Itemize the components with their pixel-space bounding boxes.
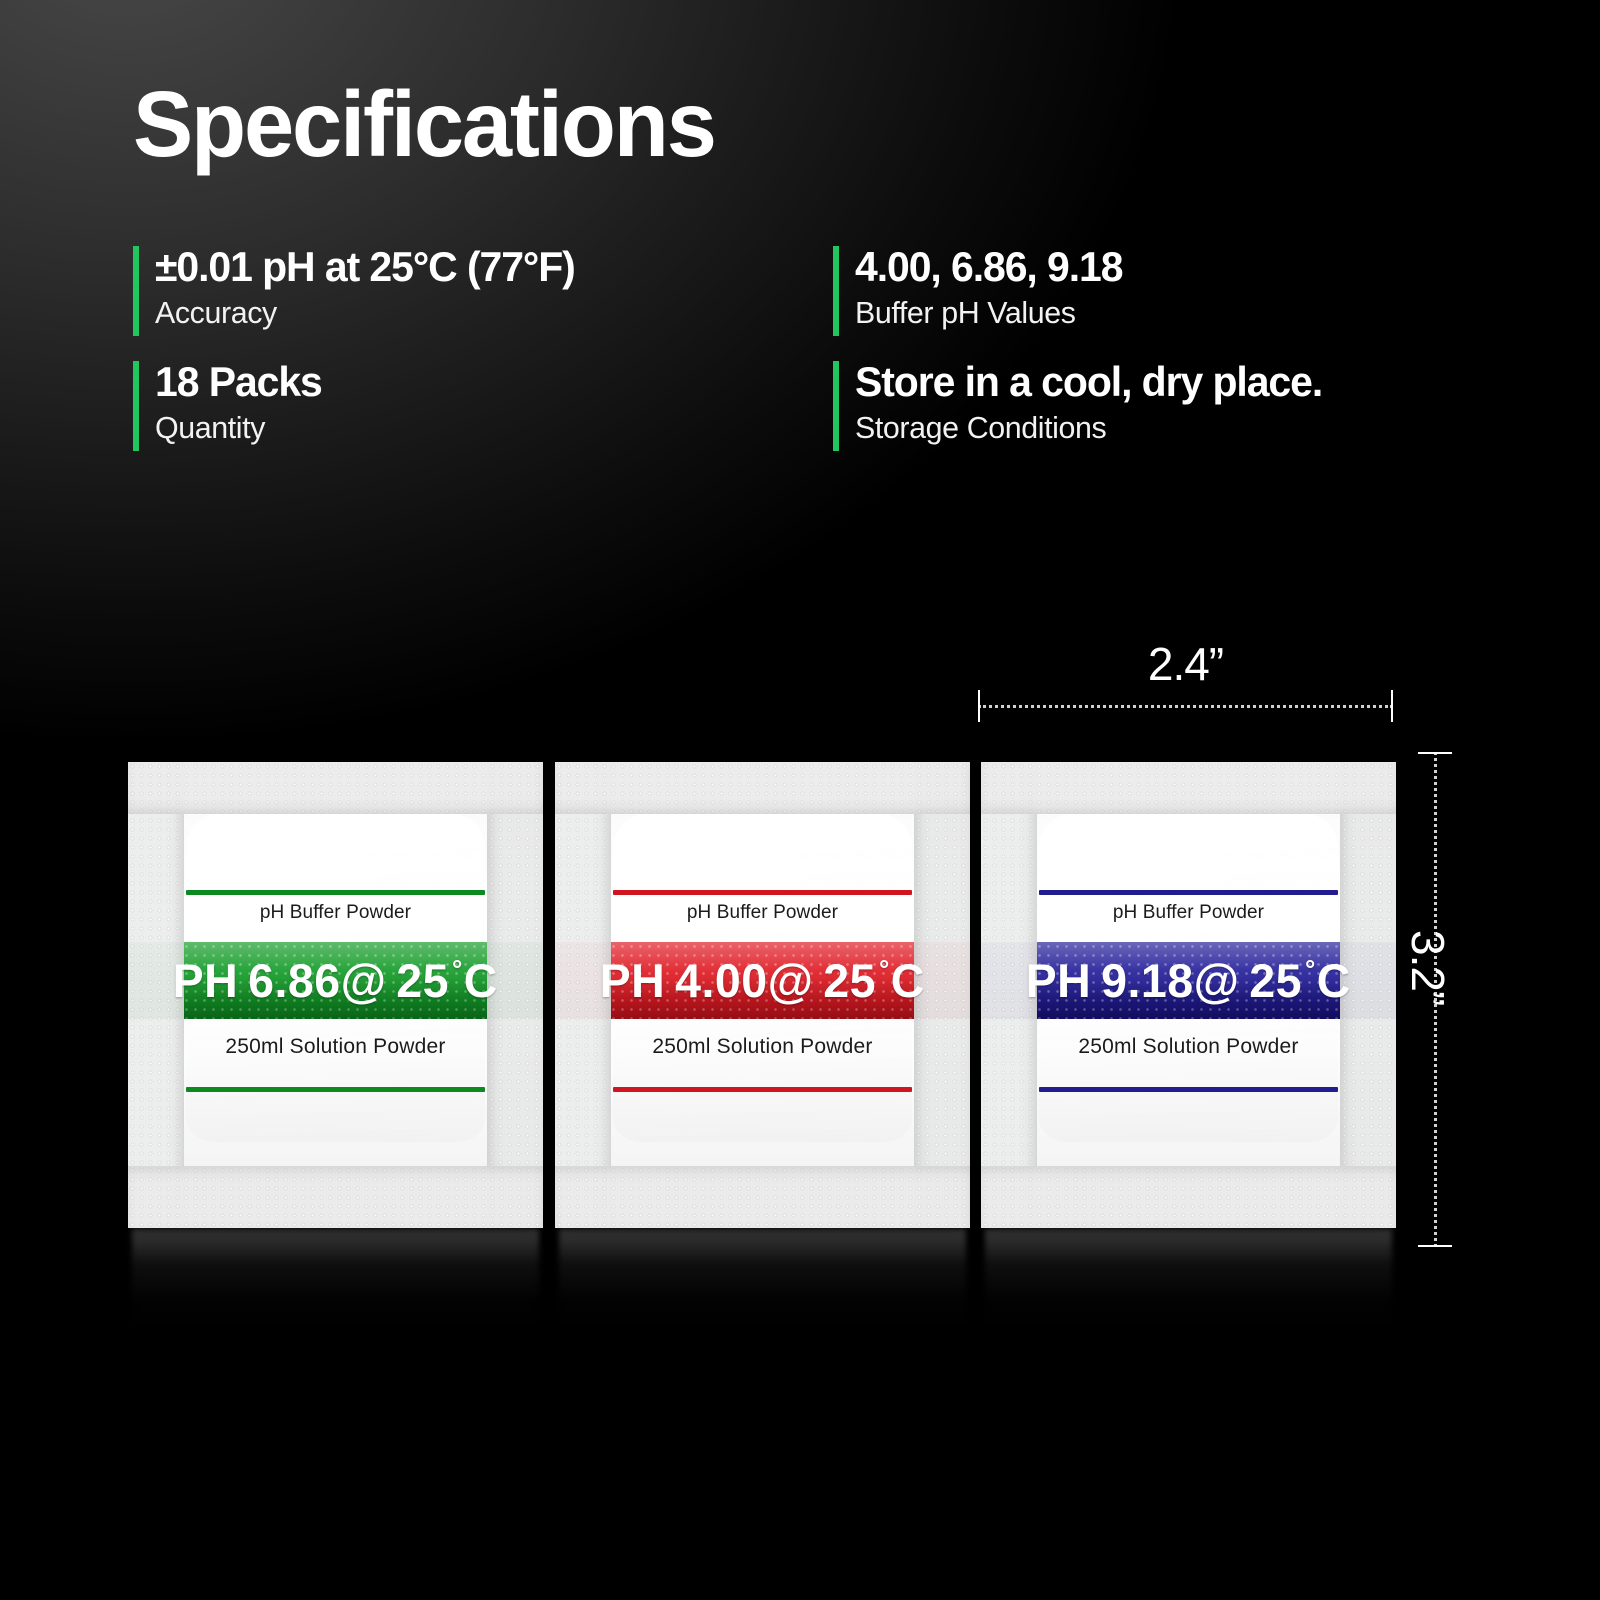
crimp-edge-top (555, 762, 970, 814)
sachet-artwork: pH Buffer Powder PH 4.00@ 25°C 250ml Sol… (555, 762, 970, 1228)
crimp-edge-top (981, 762, 1396, 814)
sachet-ph-918: pH Buffer Powder PH 9.18@ 25°C 250ml Sol… (981, 762, 1396, 1228)
dimension-width-label: 2.4” (978, 637, 1393, 691)
dimension-tick-start (978, 690, 980, 722)
sachet-top-caption: pH Buffer Powder (128, 902, 543, 924)
degree-symbol: ° (1305, 954, 1316, 984)
spec-text-group: Store in a cool, dry place. Storage Cond… (839, 358, 1334, 448)
sachet-color-band: PH 6.86@ 25°C (128, 942, 543, 1019)
product-photo-scene: pH Buffer Powder PH 6.86@ 25°C 250ml Sol… (0, 600, 1600, 1360)
sachet-bottom-caption: 250ml Solution Powder (981, 1035, 1396, 1059)
crimp-edge-top (128, 762, 543, 814)
dimension-tick-end (1391, 690, 1393, 722)
spec-value: 18 Packs (155, 358, 322, 405)
spec-value: ±0.01 pH at 25°C (77°F) (155, 243, 575, 290)
sachet-band-text: PH 6.86@ 25°C (173, 953, 498, 1008)
top-rule-line (613, 890, 912, 895)
band-prefix: PH 4.00@ 25 (600, 954, 876, 1007)
sachet-color-band: PH 9.18@ 25°C (981, 942, 1396, 1019)
sachet-reflection (132, 1228, 539, 1338)
dotted-line (978, 705, 1393, 708)
sachet-artwork: pH Buffer Powder PH 9.18@ 25°C 250ml Sol… (981, 762, 1396, 1228)
spec-text-group: 4.00, 6.86, 9.18 Buffer pH Values (839, 243, 1129, 333)
bottom-rule-line (186, 1087, 485, 1092)
sachet-color-band: PH 4.00@ 25°C (555, 942, 970, 1019)
crimp-edge-bottom (555, 1166, 970, 1228)
specifications-grid: ±0.01 pH at 25°C (77°F) Accuracy 4.00, 6… (133, 243, 1453, 473)
sachet-artwork: pH Buffer Powder PH 6.86@ 25°C 250ml Sol… (128, 762, 543, 1228)
top-rule-line (186, 890, 485, 895)
sachet-band-text: PH 4.00@ 25°C (600, 953, 925, 1008)
bottom-rule-line (613, 1087, 912, 1092)
sachet-top-caption: pH Buffer Powder (981, 902, 1396, 924)
sachet-bottom-caption: 250ml Solution Powder (128, 1035, 543, 1059)
sachet-band-text: PH 9.18@ 25°C (1026, 953, 1351, 1008)
spec-item-quantity: 18 Packs Quantity (133, 358, 833, 473)
degree-symbol: ° (452, 954, 463, 984)
sachet-ph-400: pH Buffer Powder PH 4.00@ 25°C 250ml Sol… (555, 762, 970, 1228)
crimp-edge-bottom (128, 1166, 543, 1228)
spec-value: 4.00, 6.86, 9.18 (855, 243, 1122, 290)
dimension-tick-start (1418, 752, 1452, 754)
sachet-top-caption: pH Buffer Powder (555, 902, 970, 924)
spec-label: Quantity (155, 409, 323, 448)
sachet-bottom-caption: 250ml Solution Powder (555, 1035, 970, 1059)
dimension-height-label: 3.2” (1401, 930, 1455, 1005)
spec-item-buffer-ph-values: 4.00, 6.86, 9.18 Buffer pH Values (833, 243, 1453, 358)
dimension-tick-end (1418, 1245, 1452, 1247)
top-rule-line (1039, 890, 1338, 895)
dimension-width-line (978, 705, 1393, 707)
spec-value: Store in a cool, dry place. (855, 358, 1322, 405)
band-prefix: PH 9.18@ 25 (1026, 954, 1302, 1007)
spec-label: Accuracy (155, 294, 577, 333)
background-stage: Specifications ±0.01 pH at 25°C (77°F) A… (0, 0, 1600, 1600)
spec-label: Storage Conditions (855, 409, 1325, 448)
sachet-reflection (985, 1228, 1392, 1338)
crimp-edge-bottom (981, 1166, 1396, 1228)
band-suffix: C (1317, 954, 1351, 1007)
spec-text-group: ±0.01 pH at 25°C (77°F) Accuracy (139, 243, 586, 333)
sachet-reflection (559, 1228, 966, 1338)
sachet-ph-686: pH Buffer Powder PH 6.86@ 25°C 250ml Sol… (128, 762, 543, 1228)
band-prefix: PH 6.86@ 25 (173, 954, 449, 1007)
page-title: Specifications (133, 78, 715, 171)
degree-symbol: ° (879, 954, 890, 984)
bottom-rule-line (1039, 1087, 1338, 1092)
spec-item-storage-conditions: Store in a cool, dry place. Storage Cond… (833, 358, 1453, 473)
spec-item-accuracy: ±0.01 pH at 25°C (77°F) Accuracy (133, 243, 833, 358)
band-suffix: C (891, 954, 925, 1007)
spec-text-group: 18 Packs Quantity (139, 358, 326, 448)
spec-label: Buffer pH Values (855, 294, 1124, 333)
band-suffix: C (464, 954, 498, 1007)
